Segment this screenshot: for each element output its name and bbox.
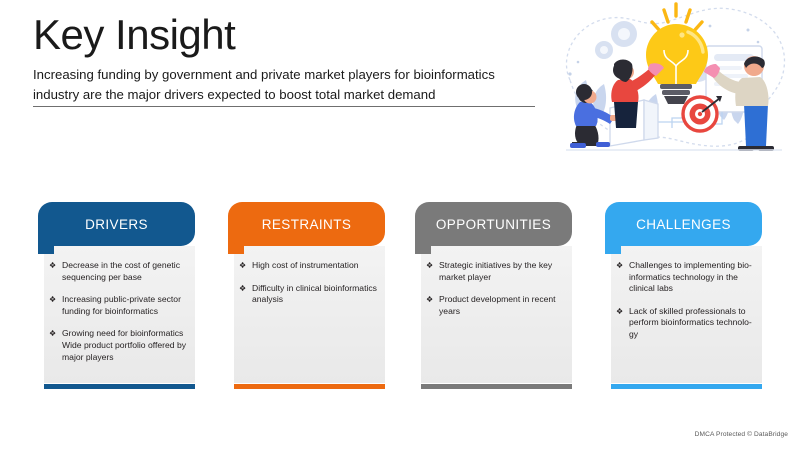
bullet-list-restraints: ❖High cost of instrumentation❖Difficulty… [234,260,379,306]
list-item: ❖Challenges to implementing bio-informat… [611,260,756,295]
diamond-bullet-icon: ❖ [49,260,56,272]
card-accent-bar-drivers [44,384,195,389]
list-item-text: Product development in recent years [439,294,556,316]
diamond-bullet-icon: ❖ [616,306,623,318]
card-header-challenges[interactable]: CHALLENGES [605,202,762,246]
card-opportunities: OPPORTUNITIES❖Strategic initiatives by t… [415,202,572,394]
bullet-list-opportunities: ❖Strategic initiatives by the key market… [421,260,566,317]
card-header-opportunities[interactable]: OPPORTUNITIES [415,202,572,246]
card-header-label-drivers: DRIVERS [85,217,148,232]
bullet-list-drivers: ❖Decrease in the cost of genetic sequenc… [44,260,189,363]
diamond-bullet-icon: ❖ [239,283,246,295]
bullet-list-challenges: ❖Challenges to implementing bio-informat… [611,260,756,341]
diamond-bullet-icon: ❖ [49,294,56,306]
card-body-drivers: ❖Decrease in the cost of genetic sequenc… [44,246,195,383]
card-body-challenges: ❖Challenges to implementing bio-informat… [611,246,762,383]
card-drivers: DRIVERS❖Decrease in the cost of genetic … [38,202,195,394]
list-item: ❖Strategic initiatives by the key market… [421,260,566,283]
card-accent-bar-challenges [611,384,762,389]
footer-credit: DMCA Protected © DataBridge [695,431,788,438]
card-accent-bar-restraints [234,384,385,389]
title-divider [33,106,535,107]
card-header-label-restraints: RESTRAINTS [262,217,352,232]
list-item-text: Decrease in the cost of genetic sequenci… [62,260,180,282]
list-item: ❖Increasing public-private sector fundin… [44,294,189,317]
card-header-drivers[interactable]: DRIVERS [38,202,195,246]
dartboard-icon [683,96,722,131]
list-item: ❖Product development in recent years [421,294,566,317]
card-accent-bar-opportunities [421,384,572,389]
list-item: ❖Decrease in the cost of genetic sequenc… [44,260,189,283]
diamond-bullet-icon: ❖ [49,328,56,340]
page-subtitle: Increasing funding by government and pri… [33,65,543,105]
diamond-bullet-icon: ❖ [616,260,623,272]
list-item-text: Challenges to implementing bio-informati… [629,260,752,293]
card-body-restraints: ❖High cost of instrumentation❖Difficulty… [234,246,385,383]
list-item-text: Lack of skilled professionals to perform… [629,306,752,339]
card-challenges: CHALLENGES❖Challenges to implementing bi… [605,202,762,394]
card-header-label-challenges: CHALLENGES [636,217,731,232]
list-item: ❖High cost of instrumentation [234,260,379,272]
list-item: ❖Growing need for bioinformatics Wide pr… [44,328,189,363]
card-body-opportunities: ❖Strategic initiatives by the key market… [421,246,572,383]
list-item-text: Strategic initiatives by the key market … [439,260,552,282]
diamond-bullet-icon: ❖ [239,260,246,272]
card-restraints: RESTRAINTS❖High cost of instrumentation❖… [228,202,385,394]
list-item-text: High cost of instrumentation [252,260,359,270]
list-item-text: Growing need for bioinformatics Wide pro… [62,328,186,361]
list-item: ❖Difficulty in clinical bioinformatics a… [234,283,379,306]
card-header-label-opportunities: OPPORTUNITIES [436,217,551,232]
diamond-bullet-icon: ❖ [426,260,433,272]
page-title: Key Insight [33,10,235,60]
list-item-text: Difficulty in clinical bioinformatics an… [252,283,377,305]
list-item: ❖Lack of skilled professionals to perfor… [611,306,756,341]
list-item-text: Increasing public-private sector funding… [62,294,181,316]
teamwork-idea-lightbulb-illustration [552,2,800,162]
diamond-bullet-icon: ❖ [426,294,433,306]
card-header-restraints[interactable]: RESTRAINTS [228,202,385,246]
